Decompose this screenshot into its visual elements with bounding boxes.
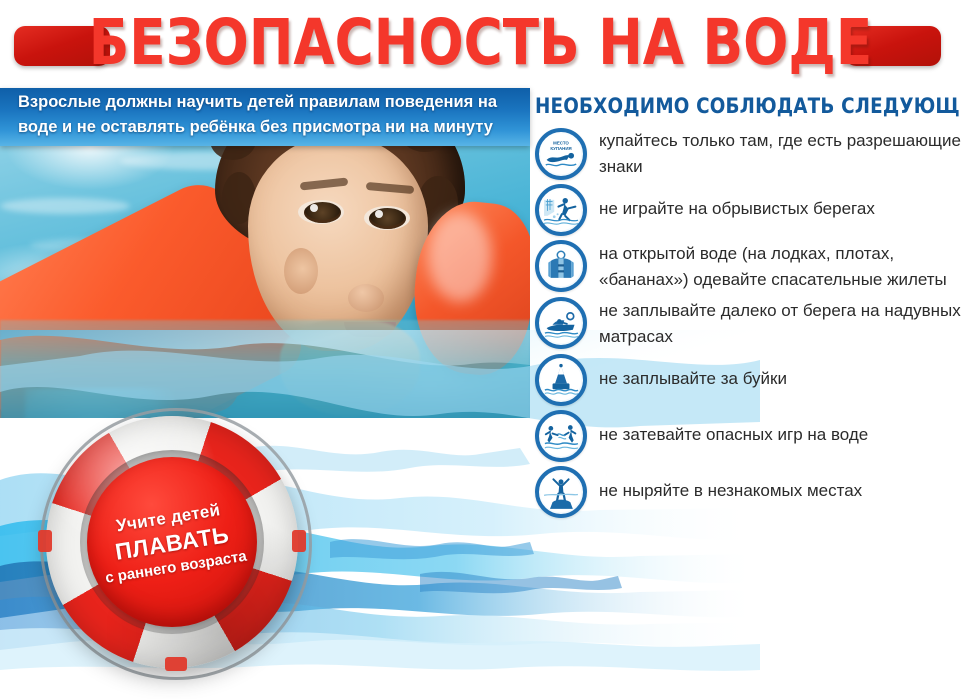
child-ear: [284, 248, 318, 294]
child-brow: [300, 178, 349, 191]
rule-text: не заплывайте далеко от берега на надувн…: [599, 297, 961, 350]
child-nose: [348, 284, 384, 312]
lifebuoy-tab: [38, 530, 52, 552]
armband-highlight: [428, 212, 492, 302]
inflatable-mattress-icon: [535, 297, 587, 349]
rules-heading: НЕОБХОДИМО СОБЛЮДАТЬ СЛЕДУЮЩИЕ ПРАВИЛА:: [535, 94, 942, 118]
rule-item: на открытой воде (на лодках, плотах, «ба…: [535, 240, 961, 293]
caption-text: Взрослые должны научить детей правилам п…: [18, 90, 518, 140]
rule-text: не играйте на обрывистых берегах: [599, 184, 961, 222]
lifebuoy-slogan: Учите детей ПЛАВАТЬ с раннего возраста: [75, 445, 270, 640]
rule-item: не заплывайте за буйки: [535, 354, 961, 406]
rule-text: не заплывайте за буйки: [599, 354, 961, 392]
poster-root: БЕЗОПАСНОСТЬ НА ВОДЕ: [0, 0, 961, 699]
child-brow: [366, 182, 415, 194]
rule-text: купайтесь только там, где есть разрешающ…: [599, 128, 961, 180]
rule-text: не затевайте опасных игр на воде: [599, 410, 961, 448]
rule-item: не играйте на обрывистых берегах: [535, 184, 961, 236]
rule-text: на открытой воде (на лодках, плотах, «ба…: [599, 240, 961, 293]
dangerous-games-icon: [535, 410, 587, 462]
rules-list: МЕСТО КУПАНИЯ купайтесь только там, где …: [535, 128, 961, 522]
water-ripple: [0, 198, 130, 214]
rule-item: не заплывайте далеко от берега на надувн…: [535, 297, 961, 350]
lifebuoy-tab: [292, 530, 306, 552]
lifebuoy-tab: [165, 657, 187, 671]
rule-item: не затевайте опасных игр на воде: [535, 410, 961, 462]
rule-item: не ныряйте в незнакомых местах: [535, 466, 961, 518]
lifebuoy-graphic: Учите детей ПЛАВАТЬ с раннего возраста: [32, 402, 312, 682]
icon-label-line2: КУПАНИЯ: [550, 146, 571, 151]
eye-highlight: [310, 204, 318, 212]
child-face: [248, 136, 428, 351]
rule-item: МЕСТО КУПАНИЯ купайтесь только там, где …: [535, 128, 961, 180]
eye-highlight: [375, 210, 383, 218]
swimming-area-sign-icon: МЕСТО КУПАНИЯ: [535, 128, 587, 180]
no-diving-icon: [535, 466, 587, 518]
buoy-icon: [535, 354, 587, 406]
falling-from-cliff-icon: [535, 184, 587, 236]
poster-header: БЕЗОПАСНОСТЬ НА ВОДЕ: [0, 0, 961, 88]
rule-text: не ныряйте в незнакомых местах: [599, 466, 961, 504]
page-title: БЕЗОПАСНОСТЬ НА ВОДЕ: [29, 4, 932, 84]
life-vest-icon: [535, 240, 587, 292]
